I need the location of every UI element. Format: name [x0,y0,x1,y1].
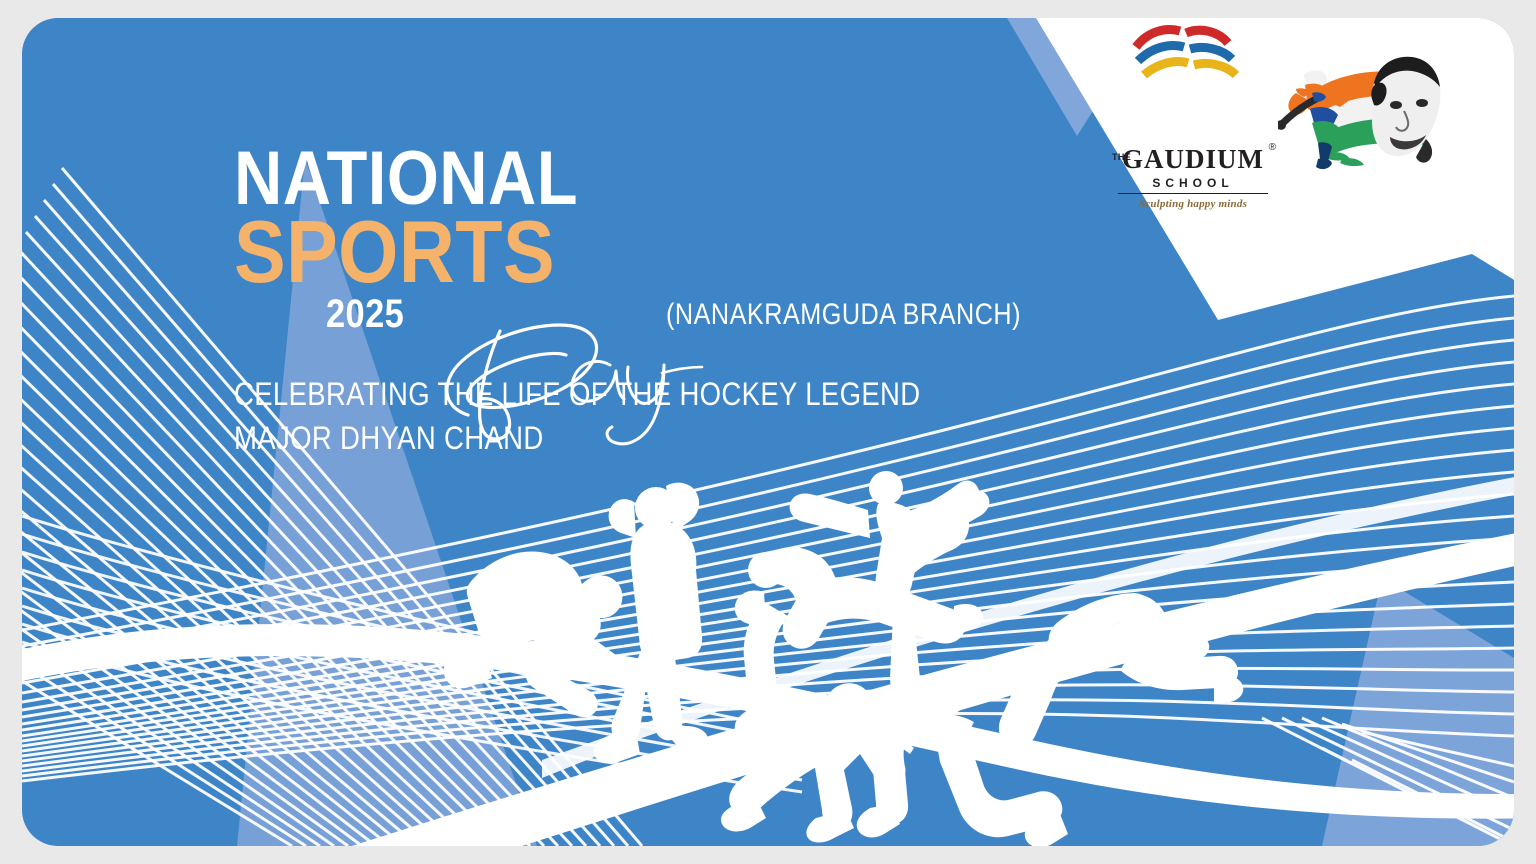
poster-canvas: NATIONAL SPORTS [0,0,1536,864]
dhyan-chand-hockey-graphic [1274,49,1446,177]
headline-text-block: NATIONAL SPORTS [234,144,1134,459]
tagline-line-2: MAJOR DHYAN CHAND [234,418,1008,459]
tagline-line-1: CELEBRATING THE LIFE OF THE HOCKEY LEGEN… [234,374,1008,415]
branch-label: (NANAKRAMGUDA BRANCH) [666,298,1021,332]
title-sports: SPORTS [234,210,1026,294]
yoga-dancer-pose-silhouette [790,471,990,718]
hurdler-runner-silhouette [993,593,1244,763]
basketball-player-silhouette [594,483,709,764]
fencer-left-silhouette [721,683,914,842]
logo-gaudium-text: GAUDIUM [1122,144,1264,174]
bottom-left-line-fan [22,516,802,792]
brand-logo-area: THE GAUDIUM® SCHOOL Sculpting happy mind… [1118,48,1448,178]
bottom-right-diagonal-fan [1262,718,1514,846]
gaudium-logo-lockup: THE GAUDIUM® SCHOOL Sculpting happy mind… [1118,17,1268,210]
major-dhyan-chand-portrait [1371,57,1440,163]
registered-trademark-icon: ® [1269,142,1277,153]
triangle-accent-bottom-right [1322,578,1514,846]
logo-gaudium-wordmark: GAUDIUM® [1122,144,1264,175]
white-swoosh-band-diagonal [352,526,1514,846]
white-swoosh-band-diagonal-thin [542,470,1514,778]
logo-tagline: Sculpting happy minds [1118,198,1268,210]
logo-school-label: SCHOOL [1118,176,1268,194]
sprinter-starting-blocks-silhouette [444,551,630,717]
martial-artist-kick-silhouette [735,547,984,739]
fencer-right-silhouette [857,671,1068,846]
white-swoosh-band-arc [22,624,1514,819]
title-year: 2025 [326,292,404,337]
